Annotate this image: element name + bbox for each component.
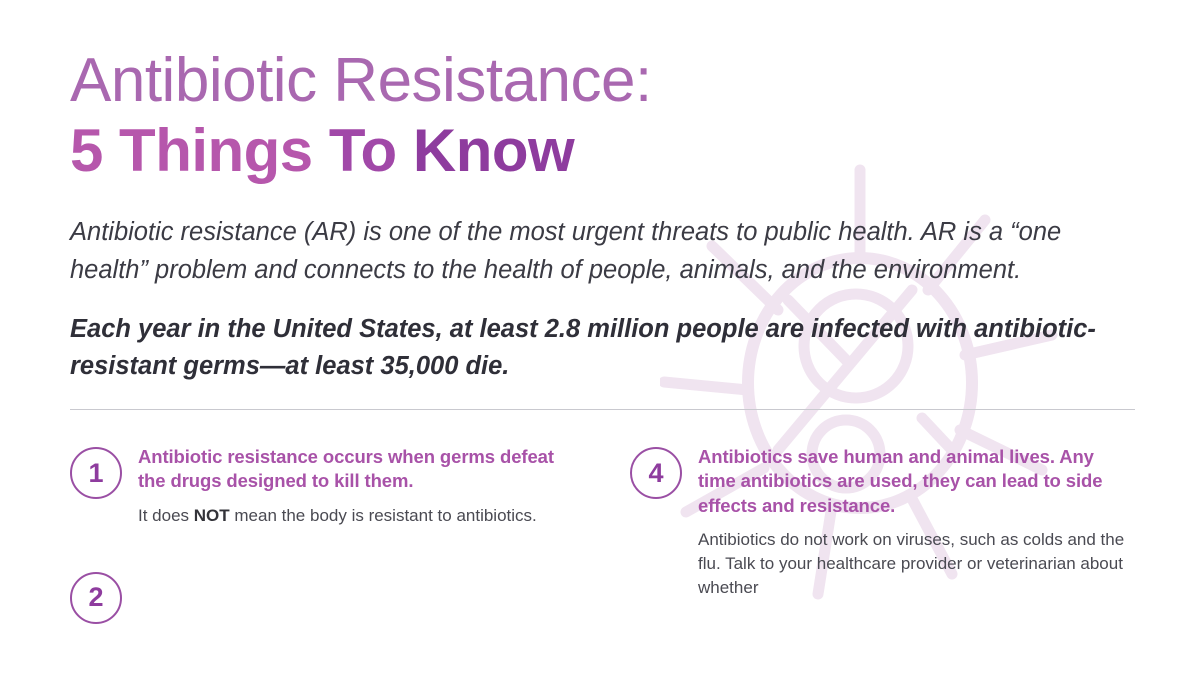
list-item: 4 Antibiotics save human and animal live…	[630, 445, 1130, 600]
page-title-line1: Antibiotic Resistance:	[70, 48, 1130, 113]
item-body: Antibiotic resistance occurs when germs …	[138, 445, 570, 528]
list-item: 1 Antibiotic resistance occurs when germ…	[70, 445, 570, 528]
page-title-part-to: To	[329, 117, 413, 184]
headline-block: Antibiotic Resistance: 5 Things To Know	[70, 0, 1130, 184]
item-body: Antibiotics save human and animal lives.…	[698, 445, 1130, 600]
item-heading: Antibiotics save human and animal lives.…	[698, 445, 1130, 518]
page-title-part-know: Know	[413, 117, 574, 184]
page-title-part-things: 5 Things	[70, 117, 329, 184]
right-column: 4 Antibiotics save human and animal live…	[630, 445, 1130, 666]
left-column: 1 Antibiotic resistance occurs when germ…	[70, 445, 570, 666]
item-text-emphasis: NOT	[194, 506, 230, 525]
item-heading: Antibiotic resistance occurs when germs …	[138, 445, 570, 493]
section-divider	[70, 409, 1135, 410]
item-description: It does NOT mean the body is resistant t…	[138, 504, 570, 528]
item-text-before: It does	[138, 506, 194, 525]
intro-paragraph: Antibiotic resistance (AR) is one of the…	[70, 214, 1115, 289]
items-columns: 1 Antibiotic resistance occurs when germ…	[70, 445, 1130, 666]
page-title-line2: 5 Things To Know	[70, 117, 1130, 184]
item-number-badge: 2	[70, 572, 122, 624]
statistic-paragraph: Each year in the United States, at least…	[70, 311, 1115, 385]
infographic-page: Antibiotic Resistance: 5 Things To Know …	[0, 0, 1200, 675]
item-description: Antibiotics do not work on viruses, such…	[698, 528, 1130, 600]
item-text-after: mean the body is resistant to antibiotic…	[230, 506, 537, 525]
item-number-badge: 4	[630, 447, 682, 499]
list-item: 2	[70, 570, 570, 624]
item-number-badge: 1	[70, 447, 122, 499]
